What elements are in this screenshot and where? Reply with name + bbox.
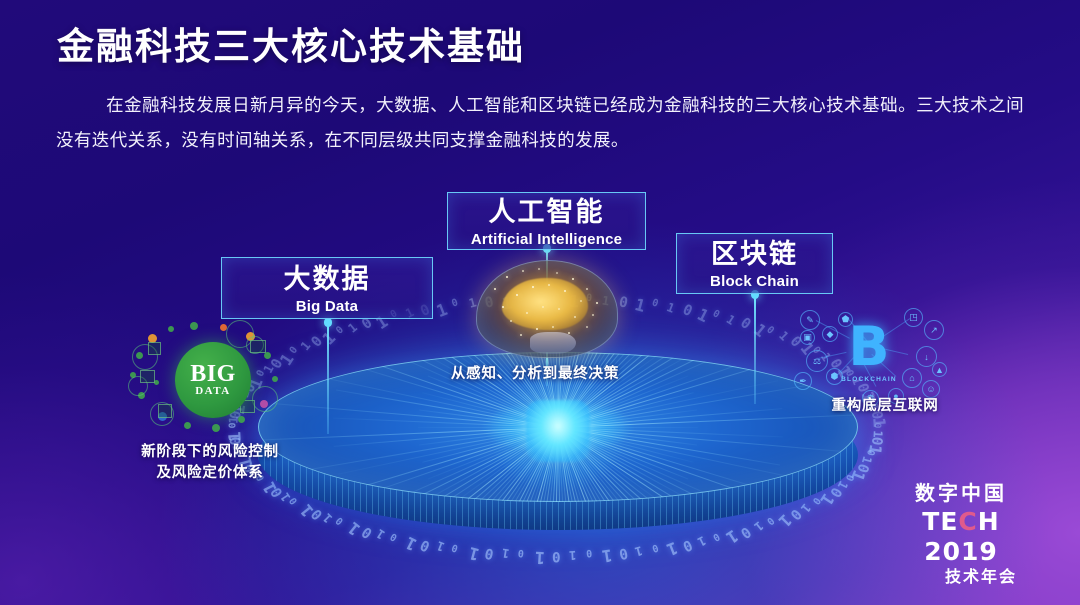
connector-dot-icon	[324, 318, 333, 327]
big-data-network-icon: BIG DATA	[128, 318, 288, 438]
blockchain-wordmark: BLOCKCHAIN	[830, 376, 908, 383]
label-block-chain-en: Block Chain	[677, 273, 832, 290]
connector-big-data	[327, 322, 329, 434]
caption-artificial-intelligence: 从感知、分析到最终决策	[420, 364, 650, 385]
page-title: 金融科技三大核心技术基础	[57, 16, 525, 70]
brand-tech-swoosh: C	[958, 507, 977, 536]
blockchain-b-glyph: B	[846, 318, 892, 380]
brand-line-tech-2019: TECH 2019	[882, 507, 1040, 567]
caption-big-data-line2: 及风险定价体系	[100, 463, 320, 484]
label-ai-en: Artificial Intelligence	[448, 231, 645, 248]
caption-block-chain: 重构底层互联网	[800, 396, 970, 417]
intro-paragraph-text: 在金融科技发展日新月异的今天，大数据、人工智能和区块链已经成为金融科技的三大核心…	[56, 95, 1024, 150]
label-box-big-data[interactable]: 大数据 Big Data	[221, 257, 433, 319]
label-block-chain-cn: 区块链	[677, 240, 832, 269]
brand-tech-pre: TE	[922, 507, 958, 536]
glowing-brain-icon	[476, 258, 616, 362]
slide-canvas: 金融科技三大核心技术基础 在金融科技发展日新月异的今天，大数据、人工智能和区块链…	[0, 0, 1080, 605]
label-big-data-cn: 大数据	[222, 265, 432, 294]
intro-paragraph: 在金融科技发展日新月异的今天，大数据、人工智能和区块链已经成为金融科技的三大核心…	[56, 88, 1024, 158]
big-data-sphere-label-primary: BIG	[190, 363, 236, 386]
connector-block-chain	[754, 294, 756, 404]
blockchain-pixel-b-icon: ✎◆⚖⬢✒◳↗↓⌂☺●⬟⚙▣▲ B BLOCKCHAIN	[792, 306, 948, 402]
brain-inner-core	[502, 278, 588, 330]
label-ai-cn: 人工智能	[448, 198, 645, 227]
label-big-data-en: Big Data	[222, 298, 432, 315]
big-data-sphere: BIG DATA	[175, 342, 251, 418]
label-box-artificial-intelligence[interactable]: 人工智能 Artificial Intelligence	[447, 192, 646, 250]
brand-logo: 数字中国 TECH 2019 技术年会	[882, 481, 1040, 589]
brand-line-annual-conference: 技术年会	[922, 567, 1040, 589]
brain-stem	[530, 332, 576, 354]
label-box-block-chain[interactable]: 区块链 Block Chain	[676, 233, 833, 294]
brand-line-digital-china: 数字中国	[882, 481, 1040, 507]
caption-big-data: 新阶段下的风险控制 及风险定价体系	[100, 442, 320, 484]
caption-big-data-line1: 新阶段下的风险控制	[100, 442, 320, 463]
big-data-sphere-label-secondary: DATA	[195, 385, 231, 397]
